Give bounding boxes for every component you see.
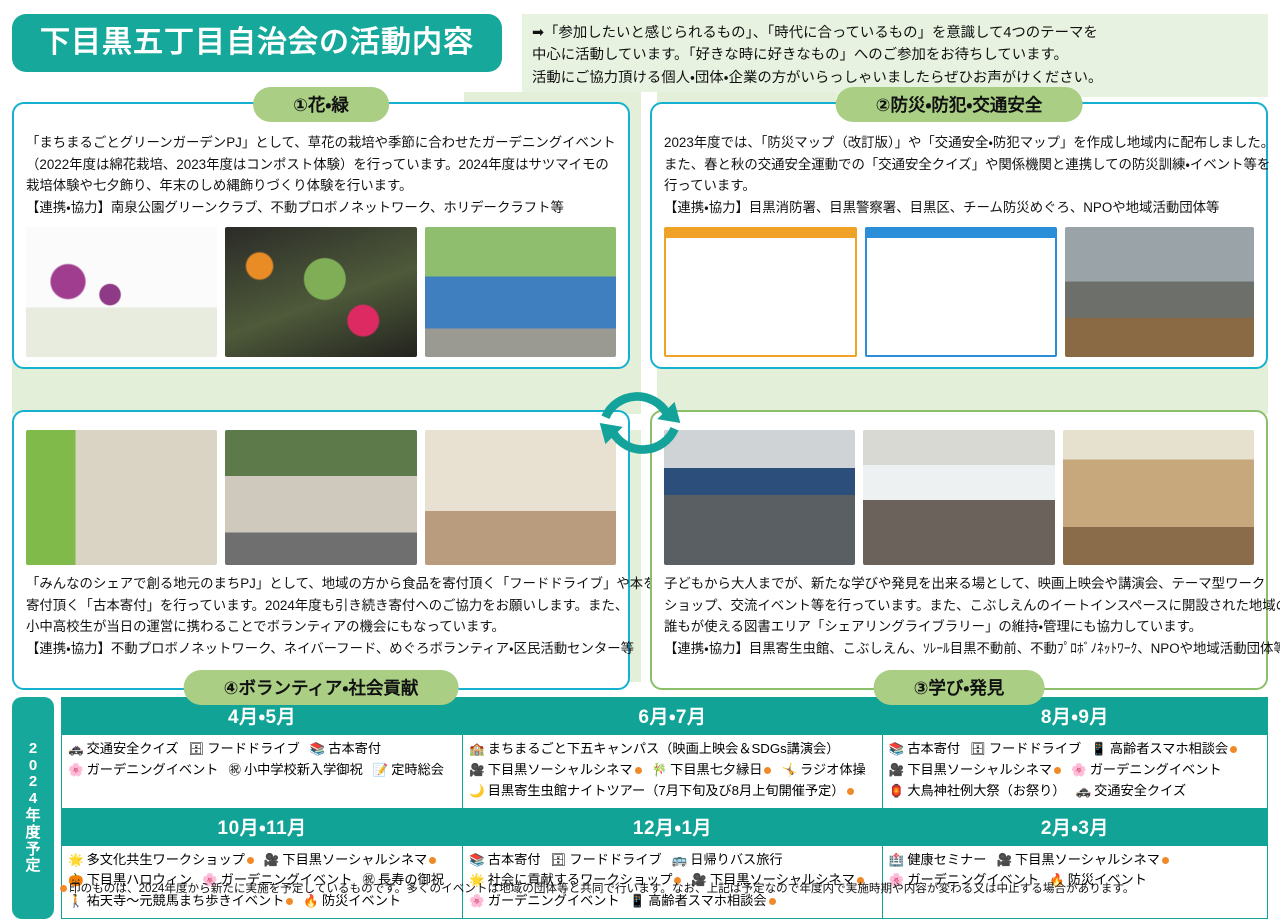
section-1-line-2: （2022年度は綿花栽培、2023年度はコンポスト体験）を行っています。2024… xyxy=(26,154,616,176)
schedule-event: 🎥下目黒ソーシャルシネマ xyxy=(889,760,1061,781)
schedule-event: 🎋下目黒七夕縁日 xyxy=(652,760,772,781)
event-label: 下目黒ソーシャルシネマ xyxy=(1015,850,1160,871)
schedule-cell-jun-jul: 🏫まちまるごと下五キャンパス（映画上映会＆SDGs講演会）🎥下目黒ソーシャルシネ… xyxy=(463,735,883,809)
schedule-event: 🏮大鳥神社例大祭（お祭り） xyxy=(889,781,1066,802)
section-disaster-crime-traffic: ②防災・防犯・交通安全 2023年度では、「防災マップ（改訂版）」や「交通安全・… xyxy=(650,102,1268,369)
event-label: 健康セミナー xyxy=(907,850,986,871)
event-icon: 📚 xyxy=(310,740,326,760)
event-icon: ㊗ xyxy=(228,761,241,781)
event-row: 🌙目黒寄生虫館ナイトツアー（7月下旬及び8月上旬開催予定） xyxy=(469,781,876,802)
event-icon: 📚 xyxy=(889,740,905,760)
page-header: 下目黒五丁目自治会の活動内容 ➡「参加したいと感じられるもの」、「時代に合ってい… xyxy=(0,0,1280,92)
intro-note-line-3: 活動にご協力頂ける個人・団体・企業の方がいらっしゃいましたらぜひお声がけください… xyxy=(532,67,1258,89)
schedule-event: 📚古本寄付 xyxy=(310,739,381,760)
year-char-5: 度 xyxy=(25,825,40,842)
section-4-tab: ④ボランティア・社会貢献 xyxy=(184,670,459,705)
new-event-marker-icon xyxy=(429,857,436,864)
schedule-event: 🚓交通安全クイズ xyxy=(1076,781,1187,802)
schedule-cell-aug-sep: 📚古本寄付🗄フードドライブ📱高齢者スマホ相談会🎥下目黒ソーシャルシネマ🌸ガーデニ… xyxy=(882,735,1267,809)
footnote-text: 印のものは、2024年度から新たに実施を予定しているものです。多くのイベントは地… xyxy=(69,882,1134,895)
section-2-line-1: 2023年度では、「防災マップ（改訂版）」や「交通安全・防犯マップ」を作成し地域… xyxy=(664,132,1254,154)
event-label: ガーデニングイベント xyxy=(1090,760,1222,781)
traffic-safety-map-photo xyxy=(865,227,1058,357)
schedule-col-jun-jul: 6月・7月 xyxy=(463,698,883,735)
year-char-0: 2 xyxy=(29,741,37,758)
year-char-7: 定 xyxy=(25,858,40,875)
section-2-panel: ②防災・防犯・交通安全 2023年度では、「防災マップ（改訂版）」や「交通安全・… xyxy=(650,102,1268,369)
event-label: 古本寄付 xyxy=(907,739,960,760)
section-volunteer-social: 「みんなのシェアで創る地元のまちPJ」として、地域の方から食品を寄付頂く「フード… xyxy=(12,410,630,690)
event-label: 大鳥神社例大祭（お祭り） xyxy=(907,781,1065,802)
section-4-line-4: 【連携・協力】不動プロボノネットワーク、ネイバーフード、めぐろボランティア・区民… xyxy=(26,638,616,660)
year-char-4: 年 xyxy=(25,808,40,825)
section-3-line-3: 誰もが使える図書エリア「シェアリングライブラリー」の維持・管理にも協力しています… xyxy=(664,616,1254,638)
schedule-header-row-2: 10月・11月 12月・1月 2月・3月 xyxy=(62,808,1268,845)
event-label: 交通安全クイズ xyxy=(1094,781,1186,802)
event-icon: 🎋 xyxy=(652,761,668,781)
section-flowers-greenery: ①花・緑 「まちまるごとグリーンガーデンPJ」として、草花の栽培や季節に合わせた… xyxy=(12,102,630,369)
event-label: フードドライブ xyxy=(207,739,299,760)
event-icon: 🎥 xyxy=(889,761,905,781)
film-screening-photo xyxy=(664,430,855,565)
themes-board: ①花・緑 「まちまるごとグリーンガーデンPJ」として、草花の栽培や季節に合わせた… xyxy=(12,92,1268,682)
year-char-1: 0 xyxy=(29,758,37,775)
flower-planter-photo xyxy=(225,227,416,357)
event-row: 🏫まちまるごと下五キャンパス（映画上映会＆SDGs講演会） xyxy=(469,739,876,760)
new-event-marker-icon xyxy=(247,857,254,864)
schedule-event: 🌸ガーデニングイベント xyxy=(68,760,218,781)
schedule-col-feb-mar: 2月・3月 xyxy=(882,808,1267,845)
year-char-6: 予 xyxy=(25,842,40,859)
section-1-photos xyxy=(26,227,616,357)
year-char-3: 4 xyxy=(29,791,37,808)
event-list: 🚓交通安全クイズ🗄フードドライブ📚古本寄付🌸ガーデニングイベント㊗小中学校新入学… xyxy=(68,739,456,781)
section-1-line-1: 「まちまるごとグリーンガーデンPJ」として、草花の栽培や季節に合わせたガーデニン… xyxy=(26,132,616,154)
intro-note-line-1: ➡「参加したいと感じられるもの」、「時代に合っているもの」を意識して4つのテーマ… xyxy=(532,22,1258,44)
section-2-photos xyxy=(664,227,1254,357)
section-3-line-2: ショップ、交流イベント等を行っています。また、こぶしえんのイートインスペースに開… xyxy=(664,595,1254,617)
event-label: 下目黒ソーシャルシネマ xyxy=(907,760,1052,781)
section-1-line-3: 栽培体験や七夕飾り、年末のしめ縄飾りづくり体験を行います。 xyxy=(26,175,616,197)
schedule-cell-apr-may: 🚓交通安全クイズ🗄フードドライブ📚古本寄付🌸ガーデニングイベント㊗小中学校新入学… xyxy=(62,735,463,809)
section-1-panel: ①花・緑 「まちまるごとグリーンガーデンPJ」として、草花の栽培や季節に合わせた… xyxy=(12,102,630,369)
section-2-tab: ②防災・防犯・交通安全 xyxy=(836,87,1083,122)
section-3-photos xyxy=(664,430,1254,565)
section-4-line-1: 「みんなのシェアで創る地元のまちPJ」として、地域の方から食品を寄付頂く「フード… xyxy=(26,573,616,595)
food-drive-banner-photo xyxy=(26,430,217,565)
event-icon: 🌸 xyxy=(1071,761,1087,781)
section-1-description: 「まちまるごとグリーンガーデンPJ」として、草花の栽培や季節に合わせたガーデニン… xyxy=(26,132,616,219)
event-label: ガーデニングイベント xyxy=(87,760,219,781)
event-icon: 🤸 xyxy=(781,761,797,781)
section-2-description: 2023年度では、「防災マップ（改訂版）」や「交通安全・防犯マップ」を作成し地域… xyxy=(664,132,1254,219)
event-label: 下目黒ソーシャルシネマ xyxy=(282,850,427,871)
section-2-line-4: 【連携・協力】目黒消防署、目黒警察署、目黒区、チーム防災めぐろ、NPOや地域活動… xyxy=(664,197,1254,219)
event-row: 🏮大鳥神社例大祭（お祭り）🚓交通安全クイズ xyxy=(889,781,1261,802)
fiscal-year-label: 2 0 2 4 年 度 予 定 xyxy=(12,697,54,919)
event-icon: 🏮 xyxy=(889,782,905,802)
intro-note: ➡「参加したいと感じられるもの」、「時代に合っているもの」を意識して4つのテーマ… xyxy=(522,14,1268,97)
event-icon: 🚓 xyxy=(1076,782,1092,802)
event-label: 小中学校新入学御祝 xyxy=(244,760,363,781)
schedule-event: 🚌日帰りバス旅行 xyxy=(672,850,783,871)
event-icon: 🌟 xyxy=(68,851,84,871)
section-4-photos xyxy=(26,430,616,565)
schedule-event: 📝定時総会 xyxy=(373,760,444,781)
new-event-marker-icon xyxy=(1054,767,1061,774)
event-icon: 🏥 xyxy=(889,851,905,871)
schedule-event: 🏥健康セミナー xyxy=(889,850,987,871)
garden-workshop-photo xyxy=(425,227,616,357)
section-4-description: 「みんなのシェアで創る地元のまちPJ」として、地域の方から食品を寄付頂く「フード… xyxy=(26,573,616,660)
section-3-line-1: 子どもから大人までが、新たな学びや発見を出来る場として、映画上映会や講演会、テー… xyxy=(664,573,1254,595)
event-label: 古本寄付 xyxy=(488,850,541,871)
new-event-marker-icon xyxy=(1230,746,1237,753)
section-4-line-2: 寄付頂く「古本寄付」を行っています。2024年度も引き続き寄付へのご協力をお願い… xyxy=(26,595,616,617)
section-3-description: 子どもから大人までが、新たな学びや発見を出来る場として、映画上映会や講演会、テー… xyxy=(664,573,1254,660)
new-event-marker-icon xyxy=(769,898,776,905)
event-label: 下目黒ソーシャルシネマ xyxy=(488,760,633,781)
event-label: 下目黒七夕縁日 xyxy=(670,760,762,781)
schedule-event: 🗄フードドライブ xyxy=(970,739,1081,760)
event-label: フードドライブ xyxy=(989,739,1081,760)
schedule-body-row-1: 🚓交通安全クイズ🗄フードドライブ📚古本寄付🌸ガーデニングイベント㊗小中学校新入学… xyxy=(62,735,1268,809)
section-1-line-4: 【連携・協力】南泉公園グリーンクラブ、不動プロボノネットワーク、ホリデークラフト… xyxy=(26,197,616,219)
page-title: 下目黒五丁目自治会の活動内容 xyxy=(12,14,502,72)
schedule-event: 🗄フードドライブ xyxy=(551,850,662,871)
new-event-marker-icon xyxy=(1162,857,1169,864)
section-3-line-4: 【連携・協力】目黒寄生虫館、こぶしえん、ｿﾚｰﾙ目黒不動前、不動ﾌﾟﾛﾎﾞﾉﾈｯ… xyxy=(664,638,1254,660)
tulips-photo xyxy=(26,227,217,357)
schedule-footnote: 印のものは、2024年度から新たに実施を予定しているものです。多くのイベントは地… xyxy=(60,880,1134,896)
event-label: 多文化共生ワークショップ xyxy=(87,850,245,871)
schedule-col-dec-jan: 12月・1月 xyxy=(463,808,883,845)
new-event-marker-icon xyxy=(635,767,642,774)
event-icon: 🎥 xyxy=(469,761,485,781)
event-icon: 🏫 xyxy=(469,740,485,760)
schedule-event: 🌙目黒寄生虫館ナイトツアー（7月下旬及び8月上旬開催予定） xyxy=(469,781,853,802)
cycle-arrows-icon xyxy=(592,375,688,471)
schedule-event: 🚓交通安全クイズ xyxy=(68,739,179,760)
event-list: 📚古本寄付🗄フードドライブ📱高齢者スマホ相談会🎥下目黒ソーシャルシネマ🌸ガーデニ… xyxy=(889,739,1261,802)
intro-note-line-2: 中心に活動しています。「好きな時に好きなもの」へのご参加をお待ちしています。 xyxy=(532,44,1258,66)
disaster-drill-photo xyxy=(1065,227,1254,357)
section-4-panel: 「みんなのシェアで創る地元のまちPJ」として、地域の方から食品を寄付頂く「フード… xyxy=(12,410,630,690)
new-event-marker-icon xyxy=(286,898,293,905)
section-3-tab: ③学び・発見 xyxy=(874,670,1045,705)
schedule-event: 🎥下目黒ソーシャルシネマ xyxy=(996,850,1168,871)
event-icon: 📝 xyxy=(373,761,389,781)
lecture-photo xyxy=(863,430,1054,565)
event-icon: 🎥 xyxy=(996,851,1012,871)
event-row: 🌟多文化共生ワークショップ🎥下目黒ソーシャルシネマ xyxy=(68,850,456,871)
schedule-event: 📚古本寄付 xyxy=(889,739,960,760)
section-learning-discovery: 子どもから大人までが、新たな学びや発見を出来る場として、映画上映会や講演会、テー… xyxy=(650,410,1268,690)
event-label: まちまるごと下五キャンパス（映画上映会＆SDGs講演会） xyxy=(488,739,840,760)
new-event-marker-icon xyxy=(60,885,67,892)
schedule-event: 📚古本寄付 xyxy=(469,850,540,871)
schedule-event: 🗄フードドライブ xyxy=(189,739,300,760)
schedule-event: ㊗小中学校新入学御祝 xyxy=(228,760,362,781)
event-icon: 🗄 xyxy=(970,740,986,760)
event-label: 目黒寄生虫館ナイトツアー（7月下旬及び8月上旬開催予定） xyxy=(488,781,845,802)
event-icon: 🎥 xyxy=(264,851,280,871)
sharing-library-photo xyxy=(1063,430,1254,565)
event-list: 🏫まちまるごと下五キャンパス（映画上映会＆SDGs講演会）🎥下目黒ソーシャルシネ… xyxy=(469,739,876,802)
event-row: 🌸ガーデニングイベント㊗小中学校新入学御祝📝定時総会 xyxy=(68,760,456,781)
disaster-map-photo xyxy=(664,227,857,357)
event-row: 📚古本寄付🗄フードドライブ🚌日帰りバス旅行 xyxy=(469,850,876,871)
event-icon: 🗄 xyxy=(189,740,205,760)
schedule-event: 🏫まちまるごと下五キャンパス（映画上映会＆SDGs講演会） xyxy=(469,739,839,760)
event-label: 日帰りバス旅行 xyxy=(690,850,782,871)
event-label: 古本寄付 xyxy=(328,739,381,760)
section-1-tab: ①花・緑 xyxy=(253,87,389,122)
section-2-line-3: 行っています。 xyxy=(664,175,1254,197)
event-icon: 🚌 xyxy=(672,851,688,871)
event-row: 🎥下目黒ソーシャルシネマ🌸ガーデニングイベント xyxy=(889,760,1261,781)
section-2-line-2: また、春と秋の交通安全運動での「交通安全クイズ」や関係機関と連携しての防災訓練・… xyxy=(664,154,1254,176)
schedule-event: 📱高齢者スマホ相談会 xyxy=(1091,739,1237,760)
schedule-event: 🎥下目黒ソーシャルシネマ xyxy=(469,760,641,781)
event-icon: 🗄 xyxy=(551,851,567,871)
event-icon: 🚓 xyxy=(68,740,84,760)
schedule-event: 🤸ラジオ体操 xyxy=(781,760,865,781)
new-event-marker-icon xyxy=(847,788,854,795)
event-row: 🎥下目黒ソーシャルシネマ🎋下目黒七夕縁日🤸ラジオ体操 xyxy=(469,760,876,781)
event-label: ラジオ体操 xyxy=(800,760,866,781)
event-label: 定時総会 xyxy=(391,760,444,781)
event-icon: 🌸 xyxy=(68,761,84,781)
schedule-event: 🎥下目黒ソーシャルシネマ xyxy=(264,850,436,871)
year-char-2: 2 xyxy=(29,774,37,791)
used-book-donation-photo xyxy=(425,430,616,565)
event-label: 高齢者スマホ相談会 xyxy=(1110,739,1228,760)
new-event-marker-icon xyxy=(764,767,771,774)
event-icon: 📱 xyxy=(1091,740,1107,760)
event-row: 📚古本寄付🗄フードドライブ📱高齢者スマホ相談会 xyxy=(889,739,1261,760)
event-icon: 🌙 xyxy=(469,782,485,802)
section-3-panel: 子どもから大人までが、新たな学びや発見を出来る場として、映画上映会や講演会、テー… xyxy=(650,410,1268,690)
section-4-line-3: 小中高校生が当日の運営に携わることでボランティアの機会にもなっています。 xyxy=(26,616,616,638)
schedule-event: 🌸ガーデニングイベント xyxy=(1071,760,1221,781)
event-label: フードドライブ xyxy=(569,850,661,871)
schedule-col-oct-nov: 10月・11月 xyxy=(62,808,463,845)
event-label: 交通安全クイズ xyxy=(87,739,179,760)
event-row: 🚓交通安全クイズ🗄フードドライブ📚古本寄付 xyxy=(68,739,456,760)
schedule-event: 🌟多文化共生ワークショップ xyxy=(68,850,254,871)
event-icon: 📚 xyxy=(469,851,485,871)
food-drive-volunteers-photo xyxy=(225,430,416,565)
event-row: 🏥健康セミナー🎥下目黒ソーシャルシネマ xyxy=(889,850,1261,871)
